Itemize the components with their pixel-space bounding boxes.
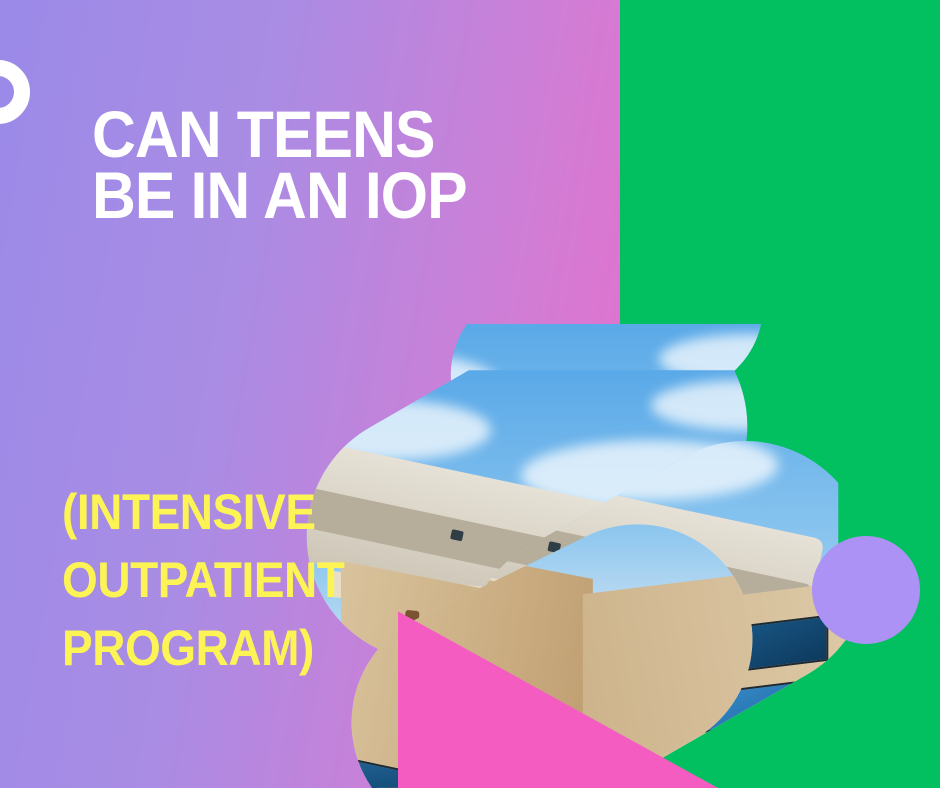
page-subtitle: (INTENSIVE OUTPATIENT PROGRAM) — [62, 478, 448, 682]
page-title: CAN TEENS BE IN AN IOP — [92, 104, 570, 225]
promo-graphic: 14301 14301 — [0, 0, 940, 788]
circle-decoration-icon — [812, 536, 920, 644]
